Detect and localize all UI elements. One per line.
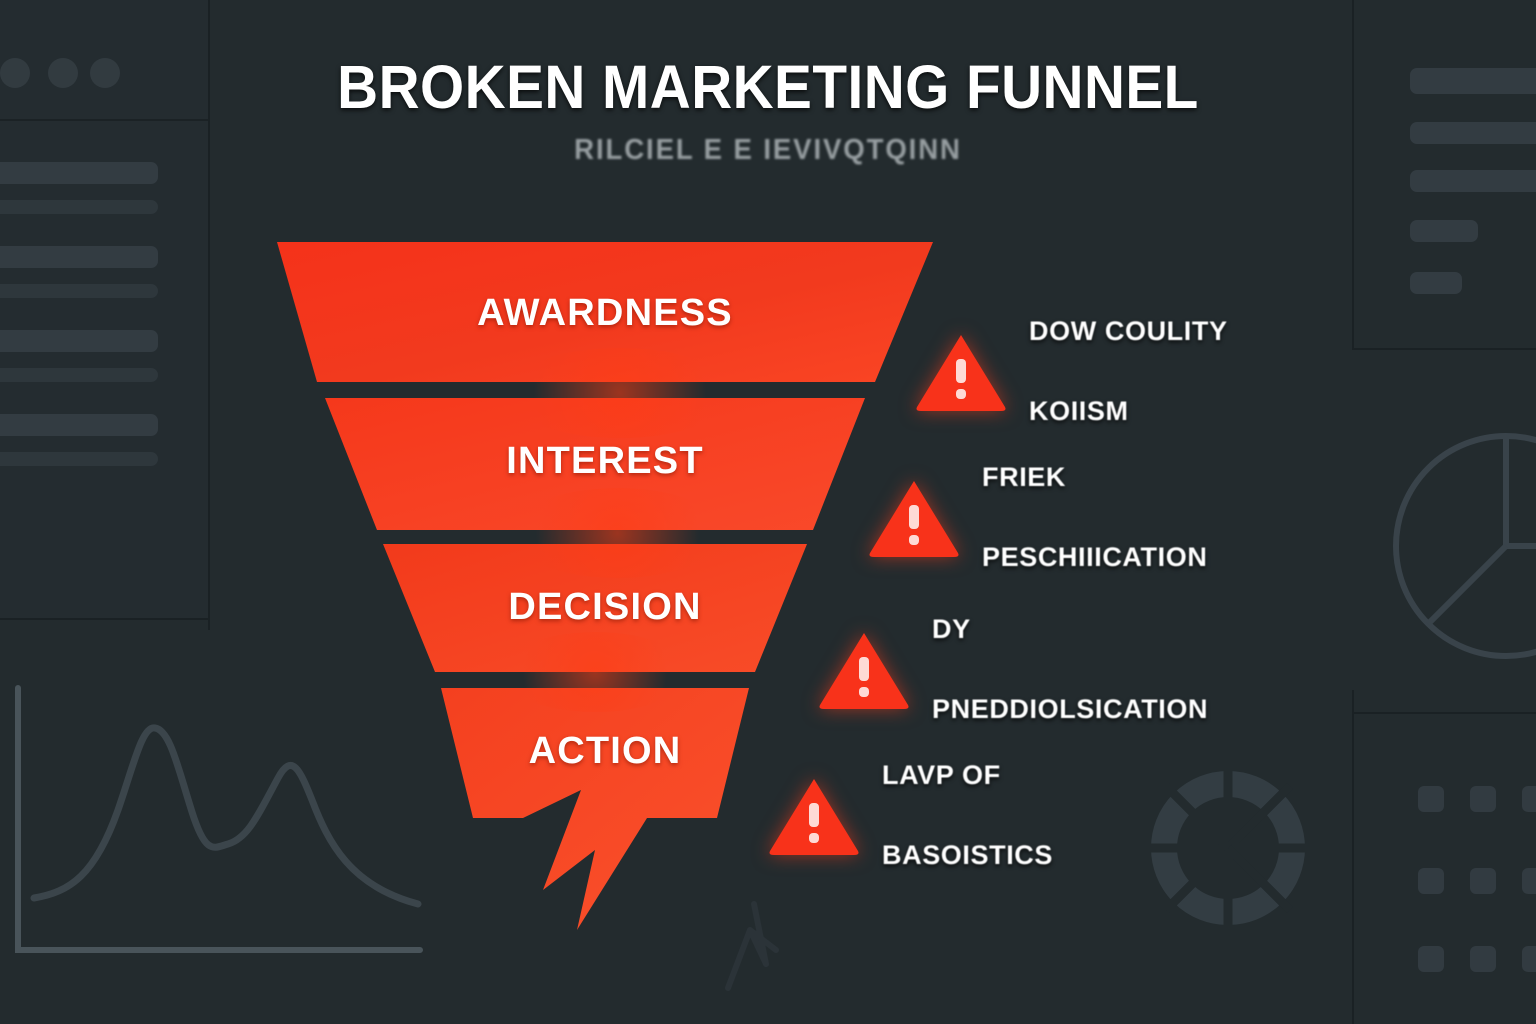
bg-grid-square — [1418, 786, 1444, 812]
annotation-line-1: FRIEK — [982, 458, 1207, 498]
bg-skeleton-row — [0, 246, 158, 268]
header-block: BROKEN MARKETING FUNNEL RILCIEL E E IEVI… — [0, 52, 1536, 167]
bg-pie-chart-widget — [1378, 400, 1536, 690]
bg-skeleton-row — [1410, 220, 1478, 242]
page-title: BROKEN MARKETING FUNNEL — [54, 52, 1482, 122]
bg-skeleton-row — [1410, 272, 1462, 294]
bg-skeleton-row — [0, 284, 158, 298]
bg-grid-square — [1522, 946, 1536, 972]
warning-triangle-icon — [868, 477, 960, 559]
funnel-segment-action — [441, 688, 749, 930]
bg-skeleton-row — [0, 200, 158, 214]
bg-grid-square — [1470, 786, 1496, 812]
warning-triangle-icon — [818, 629, 910, 711]
annotation-line-2: BASOISTICS — [882, 836, 1053, 876]
bg-divider-right-h2 — [1352, 712, 1536, 714]
annotation-line-1: LAVP OF — [882, 756, 1053, 796]
funnel-infographic: BROKEN MARKETING FUNNEL RILCIEL E E IEVI… — [0, 0, 1536, 1024]
bg-grid-square — [1418, 946, 1444, 972]
bg-donut-chart-widget — [1130, 740, 1360, 960]
bg-grid-square — [1418, 868, 1444, 894]
annotation-item[interactable]: LAVP OF BASOISTICS — [768, 716, 1053, 916]
bg-grid-square — [1522, 786, 1536, 812]
warning-triangle-icon — [768, 775, 860, 857]
bg-skeleton-row — [0, 452, 158, 466]
bg-skeleton-row — [0, 368, 158, 382]
warning-triangle-icon — [915, 331, 1007, 413]
bg-skeleton-row — [0, 330, 158, 352]
funnel-segment-interest — [325, 398, 865, 530]
annotation-line-1: DY — [932, 610, 1208, 650]
bg-divider-left-h — [0, 618, 210, 620]
bg-grid-square — [1470, 946, 1496, 972]
funnel-segment-decision — [383, 544, 807, 672]
bg-grid-square — [1522, 868, 1536, 894]
bg-grid-square — [1470, 868, 1496, 894]
page-subtitle: RILCIEL E E IEVIVQTQINN — [38, 134, 1497, 167]
bg-divider-right-h — [1352, 348, 1536, 350]
bg-skeleton-row — [1410, 170, 1536, 192]
funnel-segment-awardness — [277, 242, 933, 382]
bg-skeleton-row — [0, 414, 158, 436]
annotation-label: LAVP OF BASOISTICS — [882, 716, 1053, 916]
annotation-line-1: DOW COULITY — [1029, 312, 1228, 352]
